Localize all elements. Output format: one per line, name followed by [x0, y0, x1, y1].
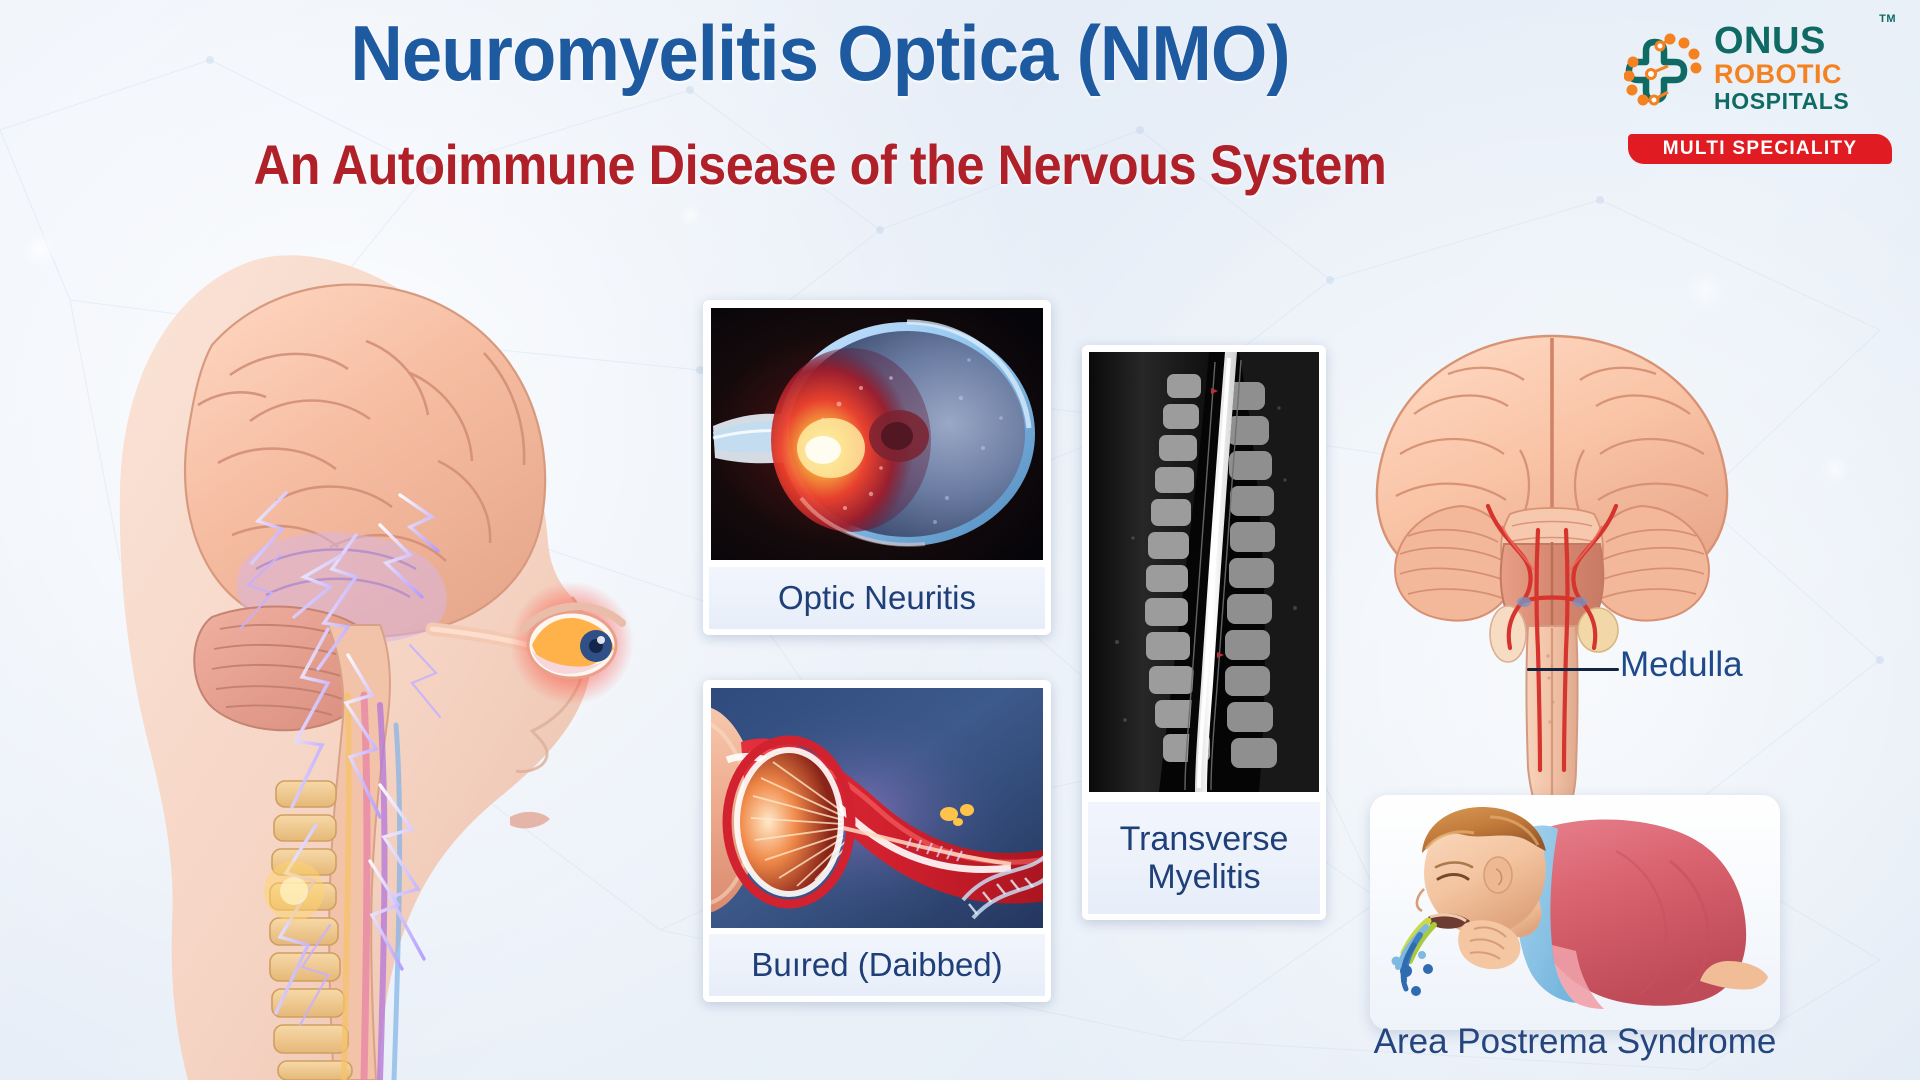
card-caption-area-postrema: Area Postrema Syndrome [1338, 1022, 1812, 1062]
medulla-leader-line [1527, 668, 1619, 671]
page-title: Neuromyelitis Optica (NMO) [57, 8, 1582, 99]
hospital-logo[interactable]: ONUS TM ROBOTIC HOSPITALS MULTI SPECIALI… [1624, 22, 1892, 162]
trademark-icon: TM [1879, 14, 1896, 25]
logo-wordmark: ONUS TM ROBOTIC HOSPITALS [1714, 22, 1892, 114]
card-inflamed-nerve[interactable]: Buıred (Daibbed) [703, 680, 1051, 1002]
optic-neuritis-image [711, 308, 1043, 560]
card-caption-inflamed-nerve: Buıred (Daibbed) [709, 934, 1045, 996]
spine-mri-image [1089, 352, 1319, 792]
logo-line-robotic: ROBOTIC [1714, 60, 1892, 89]
card-caption-optic-neuritis: Optic Neuritis [709, 567, 1045, 629]
inflamed-nerve-image [711, 688, 1043, 928]
vomiting-person-image [1370, 795, 1780, 1030]
card-area-postrema[interactable] [1370, 795, 1780, 1030]
logo-banner: MULTI SPECIALITY [1628, 134, 1892, 164]
page-subtitle: An Autoimmune Disease of the Nervous Sys… [82, 132, 1558, 197]
head-brain-spinal-cord-illustration [80, 225, 700, 1080]
card-optic-neuritis[interactable]: Optic Neuritis [703, 300, 1051, 635]
logo-line-hospitals: HOSPITALS [1714, 89, 1892, 114]
card-caption-transverse-myelitis: Transverse Myelitis [1088, 802, 1320, 914]
medulla-label: Medulla [1620, 645, 1743, 685]
posterior-brain-illustration [1352, 330, 1752, 800]
caption-line-2: Myelitis [1147, 858, 1260, 896]
caption-line-1: Transverse [1120, 820, 1289, 858]
card-transverse-myelitis[interactable]: Transverse Myelitis [1082, 345, 1326, 920]
logo-banner-text: MULTI SPECIALITY [1663, 138, 1858, 160]
medical-cross-robot-icon [1624, 28, 1712, 120]
logo-name: ONUS [1714, 20, 1826, 62]
